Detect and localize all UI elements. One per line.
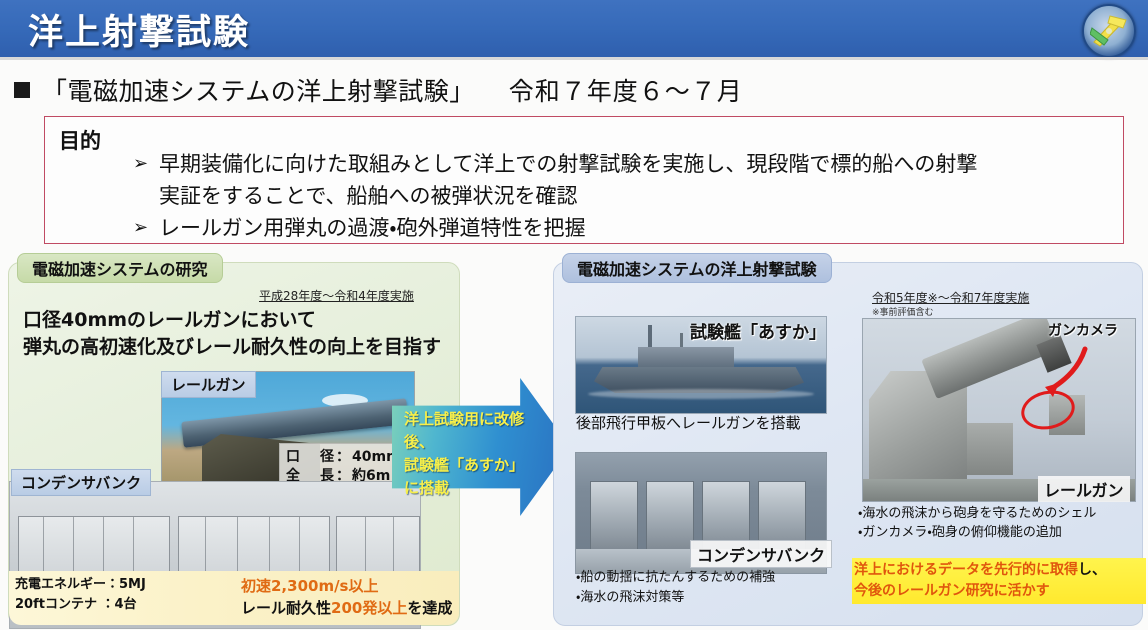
square-bullet-icon [14,82,30,98]
arrow-line3: に搭載 [404,477,540,500]
left-results-achievements: 初速2,300m/s以上 レール耐久性200発以上を達成 [241,575,452,619]
durability-prefix: レール耐久性 [241,599,331,617]
spec-key-b: 径 [320,448,334,467]
purpose-item-continuation: 実証をすることで、船舶への被弾状況を確認 [133,181,1113,211]
capacitor-unit [646,481,694,557]
purpose-item: ➢ 早期装備化に向けた取組みとして洋上での射撃試験を実施し、現段階で標的船への射… [133,149,1113,179]
spec-key: 口 径 [286,448,334,467]
slide-root: 洋上射撃試験 「電磁加速システムの洋上射撃試験」 令和７年度６〜７月 目的 ➢ … [0,0,1148,630]
header-divider [0,57,1148,60]
arrow-line1: 洋上試験用に改修後、 [404,408,540,454]
left-results-band: 充電エネルギー：5MJ 20ftコンテナ ：4台 初速2,300m/s以上 レー… [9,571,459,625]
railgun-feature-item: ・海水の飛沫から砲身を守るためのシェル [858,504,1144,523]
gun-camera-label: ガンカメラ [1048,320,1118,340]
charge-energy-text: 充電エネルギー：5MJ [15,575,146,595]
left-panel-heading: 口径40mmのレールガンにおいて 弾丸の高初速化及びレール耐久性の向上を目指す [23,307,453,361]
purpose-box: 目的 ➢ 早期装備化に向けた取組みとして洋上での射撃試験を実施し、現段階で標的船… [44,116,1124,244]
conclusion-line2: 今後のレールガン研究に活かす [854,581,1144,602]
page-title: 洋上射撃試験 [28,4,250,55]
left-heading-line2: 弾丸の高初速化及びレール耐久性の向上を目指す [23,334,453,361]
purpose-heading: 目的 [59,125,101,155]
left-results-specs: 充電エネルギー：5MJ 20ftコンテナ ：4台 [15,575,146,615]
durability-value: 200発以上 [331,599,407,617]
topic-date: 令和７年度６〜７月 [509,72,743,108]
capacitor-feature-item: ・船の動揺に抗たんするための補強 [576,568,856,588]
railgun-feature-item: ・ガンカメラ・砲身の俯仰機能の追加 [858,523,1144,542]
capacitor-bank-label: コンデンサバンク [11,469,151,496]
railgun-photo-label: レールガン [161,371,256,398]
conclusion-tail: し、 [1078,562,1106,578]
left-heading-line1: 口径40mmのレールガンにおいて [23,307,453,334]
ship-wake [588,389,814,399]
shipboard-capacitor-label: コンデンサバンク [690,540,832,568]
annotation-arrow-icon [1039,345,1091,403]
muzzle-velocity-text: 初速2,300m/s以上 [241,575,452,597]
arrow-line2: 試験艦「あすか」 [404,454,540,477]
arrow-caption: 洋上試験用に改修後、 試験艦「あすか」 に搭載 [404,408,540,500]
test-ship-caption: 後部飛行甲板へレールガンを搭載 [576,412,801,433]
transition-arrow: 洋上試験用に改修後、 試験艦「あすか」 に搭載 [392,378,570,516]
purpose-list: ➢ 早期装備化に向けた取組みとして洋上での射撃試験を実施し、現段階で標的船への射… [133,149,1113,245]
left-panel-date: 平成28年度～令和4年度実施 [259,287,414,304]
conclusion-emphasis: 洋上におけるデータを先行的に取得 [854,562,1078,578]
shipboard-railgun-photo [862,318,1136,502]
emblem-circle [1082,4,1136,58]
spec-separator: ： [336,448,350,467]
gun-mount [967,423,1013,475]
arrow-bullet-icon: ➢ [133,213,159,243]
arrow-bullet-icon: ➢ [133,149,159,179]
slide-header: 洋上射撃試験 [0,0,1148,57]
purpose-item: ➢ レールガン用弾丸の過渡・砲外弾道特性を把握 [133,213,1113,243]
emblem-sword-icon [1090,14,1128,48]
right-panel-tab: 電磁加速システムの洋上射撃試験 [562,253,832,283]
capacitor-feature-list: ・船の動揺に抗たんするための補強 ・海水の飛沫対策等 [576,568,856,608]
capacitor-feature-item: ・海水の飛沫対策等 [576,588,856,608]
right-panel-date: 令和5年度※～令和7年度実施 [872,289,1029,306]
left-panel-tab: 電磁加速システムの研究 [17,253,223,283]
ship-superstructure [638,347,734,369]
conclusion-highlight: 洋上におけるデータを先行的に取得し、 今後のレールガン研究に活かす [852,558,1146,604]
shipboard-railgun-label: レールガン [1038,476,1130,502]
test-ship-title: 試験艦「あすか」 [690,318,826,343]
purpose-item-text: レールガン用弾丸の過渡・砲外弾道特性を把握 [159,213,586,243]
container-count-text: 20ftコンテナ ：4台 [15,595,146,615]
right-panel-note: ※事前評価含む [872,305,934,318]
purpose-item-text: 早期装備化に向けた取組みとして洋上での射撃試験を実施し、現段階で標的船への射撃 [159,149,977,179]
spec-key-a: 口 [286,448,300,467]
topic-label: 「電磁加速システムの洋上射撃試験」 [42,72,475,108]
purpose-item-text: 実証をすることで、船舶への被弾状況を確認 [159,181,578,211]
railgun-feature-list: ・海水の飛沫から砲身を守るためのシェル ・ガンカメラ・砲身の俯仰機能の追加 [858,504,1144,542]
conclusion-line1: 洋上におけるデータを先行的に取得し、 [854,560,1144,581]
durability-suffix: を達成 [407,599,452,617]
atla-emblem-icon [1074,4,1138,54]
rail-durability-text: レール耐久性200発以上を達成 [241,597,452,619]
capacitor-unit [590,481,638,557]
topic-line: 「電磁加速システムの洋上射撃試験」 令和７年度６〜７月 [14,70,1134,110]
